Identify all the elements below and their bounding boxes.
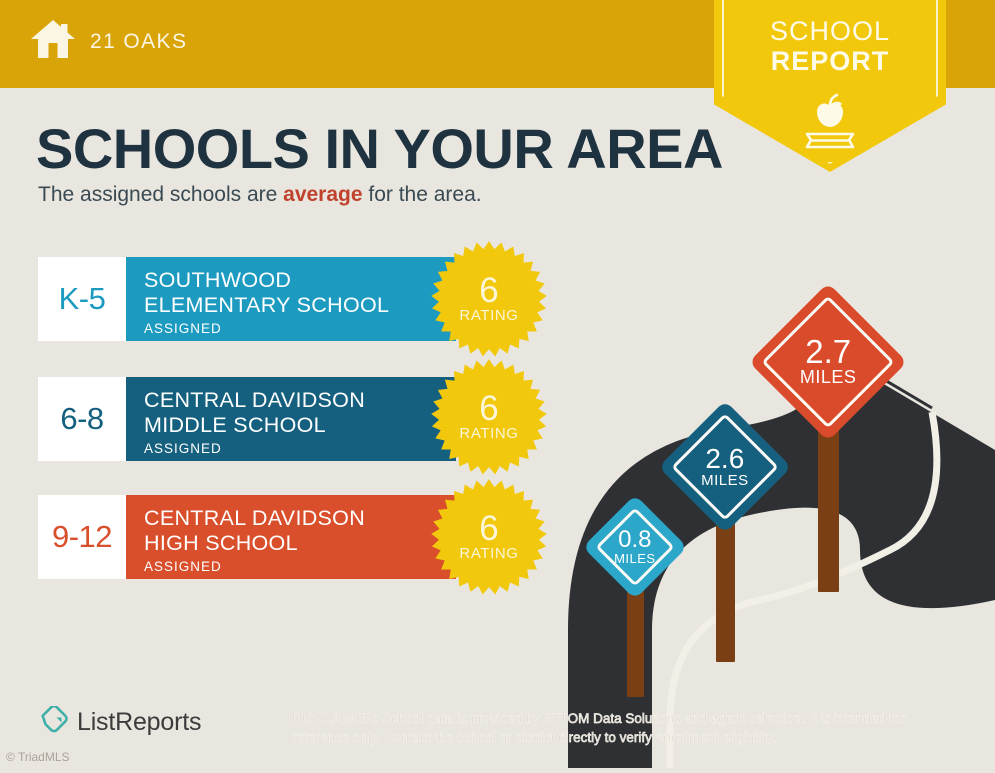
listreports-logo[interactable]: ListReports [40, 706, 201, 739]
listreports-wordmark: ListReports [77, 708, 201, 737]
property-name: 21 OAKS [90, 30, 187, 54]
sign-post [818, 414, 839, 592]
grade-range-box: 6-8 [38, 377, 126, 461]
grade-range-box: 9-12 [38, 495, 126, 579]
sign-text: 2.7 MILES [800, 336, 857, 388]
sign-text: 0.8 MILES [614, 528, 656, 566]
distance-sign: 2.6 MILES [678, 420, 772, 514]
school-info-bar: CENTRAL DAVIDSON HIGH SCHOOL ASSIGNED [126, 495, 456, 579]
grade-range-label: 6-8 [60, 401, 103, 437]
school-status: ASSIGNED [144, 441, 456, 456]
badge-title-line2: REPORT [714, 46, 946, 76]
badge-title: SCHOOL REPORT [714, 16, 946, 76]
rating-caption: RATING [459, 545, 518, 562]
sign-face: 2.7 MILES [749, 283, 907, 441]
disclaimer-text: DISCLAIMER: School data is provided by A… [292, 709, 952, 747]
rating-badge: 6 RATING [430, 240, 548, 358]
rating-value: 6 [479, 512, 498, 545]
subtitle-before: The assigned schools are [38, 183, 283, 206]
rating-caption: RATING [459, 425, 518, 442]
rating-value: 6 [479, 392, 498, 425]
subtitle-highlight: average [283, 183, 362, 206]
school-report-badge: SCHOOL REPORT [714, 0, 946, 172]
apple-on-book-icon [714, 92, 946, 154]
sign-face: 0.8 MILES [583, 495, 688, 600]
listreports-house-icon [40, 706, 68, 739]
mls-attribution: © TriadMLS [6, 750, 70, 764]
sign-face: 2.6 MILES [659, 401, 792, 534]
sign-text: 2.6 MILES [701, 445, 749, 489]
page-title: SCHOOLS IN YOUR AREA [36, 116, 723, 181]
school-name: SOUTHWOOD ELEMENTARY SCHOOL [144, 268, 456, 318]
grade-range-label: K-5 [59, 281, 106, 317]
school-row[interactable]: 6-8 CENTRAL DAVIDSON MIDDLE SCHOOL ASSIG… [38, 377, 456, 461]
road-scene: 0.8 MILES 2.6 MILES 2.7 MILES [560, 300, 995, 768]
home-icon [30, 18, 76, 65]
distance-sign: 0.8 MILES [598, 510, 672, 584]
sign-value: 0.8 [614, 528, 656, 551]
sign-value: 2.6 [701, 445, 749, 472]
subtitle-after: for the area. [363, 183, 482, 206]
sign-value: 2.7 [800, 336, 857, 367]
school-name: CENTRAL DAVIDSON HIGH SCHOOL [144, 506, 456, 556]
rating-badge: 6 RATING [430, 358, 548, 476]
grade-range-label: 9-12 [52, 519, 112, 555]
school-status: ASSIGNED [144, 559, 456, 574]
school-row[interactable]: K-5 SOUTHWOOD ELEMENTARY SCHOOL ASSIGNED [38, 257, 456, 341]
sign-post [716, 512, 735, 662]
school-name: CENTRAL DAVIDSON MIDDLE SCHOOL [144, 388, 456, 438]
rating-value: 6 [479, 274, 498, 307]
page-subtitle: The assigned schools are average for the… [38, 183, 482, 207]
distance-sign: 2.7 MILES [772, 306, 884, 418]
rating-badge: 6 RATING [430, 478, 548, 596]
school-info-bar: CENTRAL DAVIDSON MIDDLE SCHOOL ASSIGNED [126, 377, 456, 461]
school-row[interactable]: 9-12 CENTRAL DAVIDSON HIGH SCHOOL ASSIGN… [38, 495, 456, 579]
rating-caption: RATING [459, 307, 518, 324]
sign-unit: MILES [614, 551, 656, 566]
badge-title-line1: SCHOOL [770, 16, 890, 46]
grade-range-box: K-5 [38, 257, 126, 341]
sign-post [627, 582, 644, 697]
school-info-bar: SOUTHWOOD ELEMENTARY SCHOOL ASSIGNED [126, 257, 456, 341]
sign-unit: MILES [800, 367, 857, 388]
school-status: ASSIGNED [144, 321, 456, 336]
sign-unit: MILES [701, 472, 749, 489]
brand-block: 21 OAKS [30, 18, 187, 65]
